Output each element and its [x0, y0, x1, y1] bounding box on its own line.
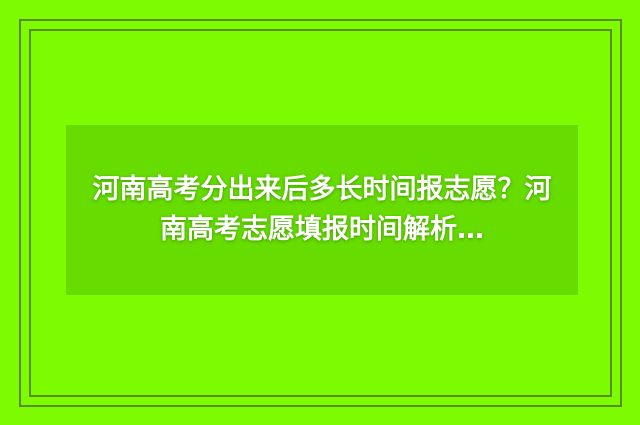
- caption-title-text: 河南高考分出来后多长时间报志愿？河南高考志愿填报时间解析…: [66, 170, 578, 250]
- caption-overlay-panel: 河南高考分出来后多长时间报志愿？河南高考志愿填报时间解析…: [66, 125, 578, 295]
- image-canvas: 河南高考分出来后多长时间报志愿？河南高考志愿填报时间解析…: [0, 0, 640, 425]
